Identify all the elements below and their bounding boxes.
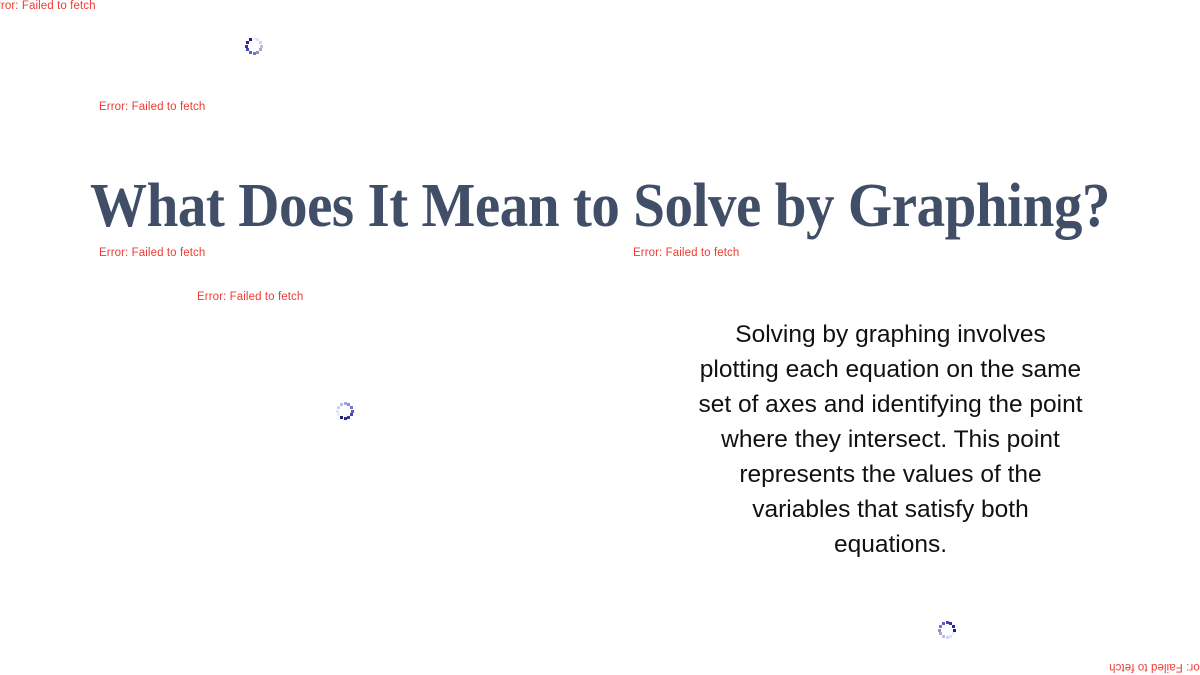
spinner-segment-icon (340, 416, 343, 419)
spinner-segment-icon (337, 406, 340, 409)
spinner-segment-icon (340, 403, 343, 406)
spinner-segment-icon (351, 410, 354, 413)
fetch-error-top-left: rror: Failed to fetch (0, 0, 96, 13)
page-title: What Does It Mean to Solve by Graphing? (48, 168, 1152, 244)
spinner-segment-icon (253, 52, 256, 55)
spinner-segment-icon (949, 635, 952, 638)
spinner-segment-icon (347, 416, 350, 419)
spinner-segment-icon (939, 625, 942, 628)
loading-spinner-bottom (938, 621, 956, 639)
spinner-segment-icon (336, 410, 339, 413)
spinner-segment-icon (344, 417, 347, 420)
body-paragraph: Solving by graphing involves plotting ea… (698, 317, 1083, 562)
spinner-segment-icon (946, 621, 949, 624)
loading-spinner-top (245, 37, 263, 55)
fetch-error-bottom-right-rotated: Error: Failed to fetch (1109, 660, 1200, 674)
spinner-segment-icon (953, 629, 956, 632)
spinner-segment-icon (350, 413, 353, 416)
spinner-segment-icon (946, 636, 949, 639)
right-column: Error: Failed to fetch Solving by graphi… (610, 236, 1110, 566)
spinner-segment-icon (942, 635, 945, 638)
spinner-segment-icon (253, 37, 256, 40)
spinner-segment-icon (939, 632, 942, 635)
content-columns: Error: Failed to fetch Error: Failed to … (90, 236, 1110, 566)
spinner-segment-icon (246, 41, 249, 44)
spinner-segment-icon (256, 51, 259, 54)
spinner-segment-icon (337, 413, 340, 416)
loading-spinner-middle (336, 402, 354, 420)
spinner-segment-icon (245, 45, 248, 48)
spinner-segment-icon (249, 51, 252, 54)
spinner-segment-icon (938, 629, 941, 632)
spinner-segment-icon (344, 402, 347, 405)
slide-canvas: rror: Failed to fetch Error: Failed to f… (0, 0, 1200, 675)
spinner-segment-icon (350, 406, 353, 409)
spinner-segment-icon (942, 622, 945, 625)
left-column: Error: Failed to fetch Error: Failed to … (90, 236, 610, 566)
spinner-segment-icon (260, 45, 263, 48)
spinner-segment-icon (249, 38, 252, 41)
fetch-error-left-upper: Error: Failed to fetch (99, 100, 205, 114)
fetch-error-right-column: Error: Failed to fetch (633, 246, 739, 260)
spinner-segment-icon (952, 625, 955, 628)
spinner-segment-icon (259, 48, 262, 51)
broken-image-placeholder (90, 236, 610, 536)
spinner-segment-icon (952, 632, 955, 635)
spinner-segment-icon (259, 41, 262, 44)
spinner-segment-icon (246, 48, 249, 51)
